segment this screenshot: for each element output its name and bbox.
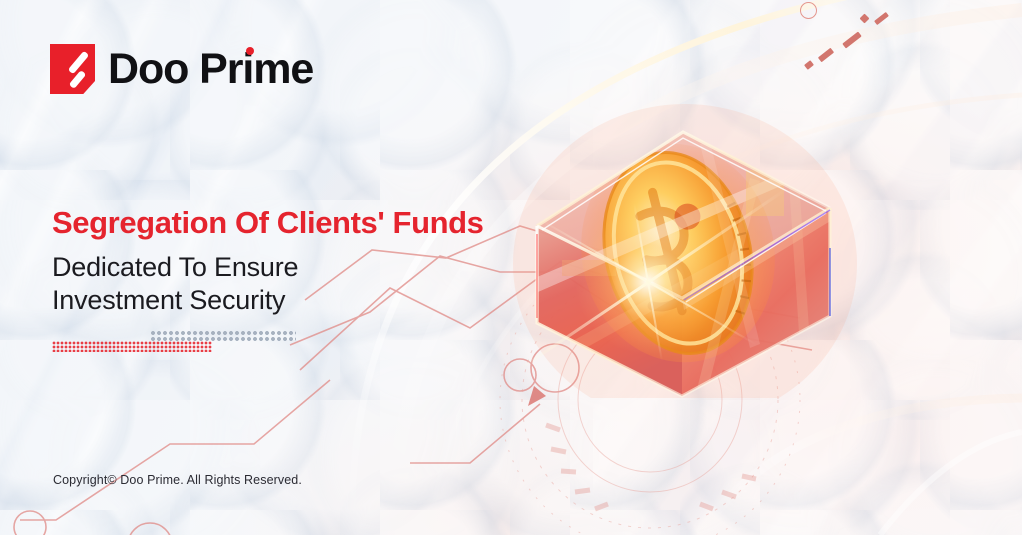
- doo-prime-mark-icon: [50, 44, 95, 94]
- copyright-text: Copyright© Doo Prime. All Rights Reserve…: [53, 473, 302, 487]
- halftone-dot-band-red: [52, 341, 212, 352]
- small-circle-decoration: [800, 2, 817, 19]
- page-title: Segregation Of Clients' Funds: [52, 205, 484, 242]
- glass-cube-illustration: [500, 48, 870, 398]
- page-subtitle: Dedicated To Ensure Investment Security: [52, 251, 484, 317]
- logo-red-dot-icon: [246, 47, 254, 55]
- promotional-banner: Doo Prime Segregation Of Clients' Funds …: [0, 0, 1022, 535]
- brand-logo[interactable]: Doo Prime: [50, 44, 313, 94]
- headline-block: Segregation Of Clients' Funds Dedicated …: [52, 205, 484, 316]
- brand-name: Doo Prime: [108, 48, 313, 91]
